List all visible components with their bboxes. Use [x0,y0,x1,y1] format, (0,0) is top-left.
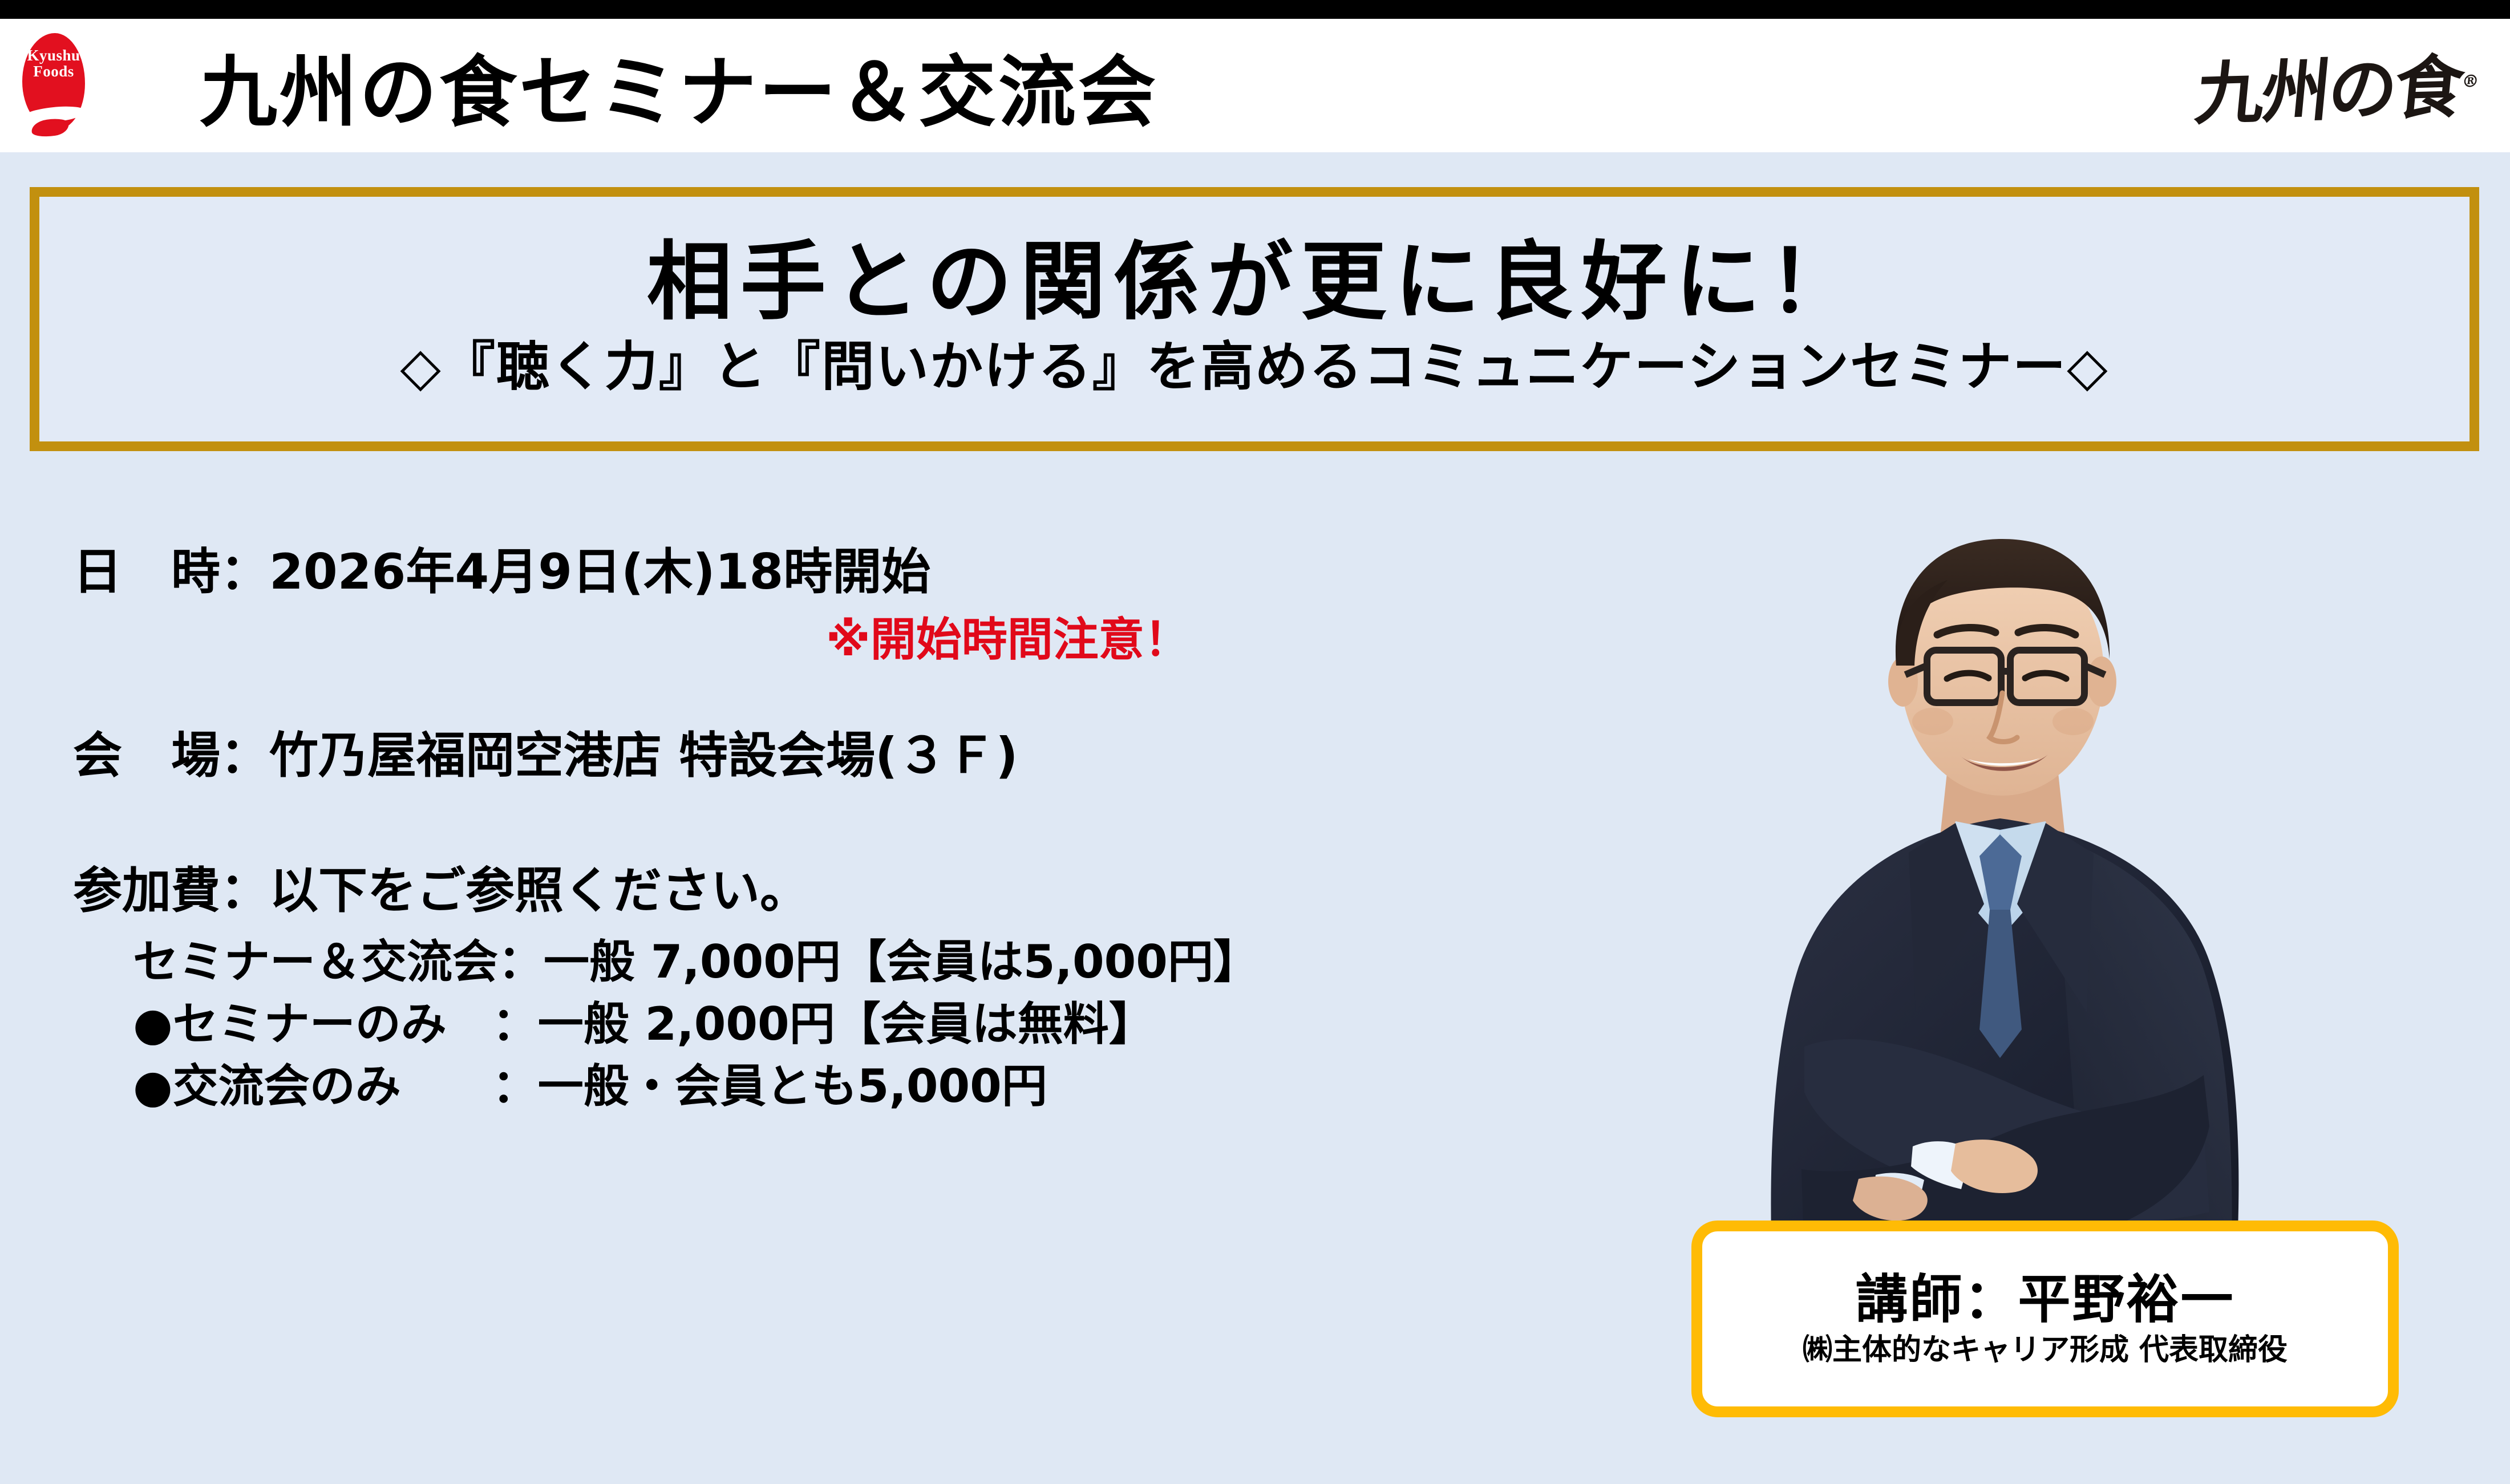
kyushu-no-shoku-brush-logo: 九州の食® [2125,29,2479,140]
kyushu-foods-logo: Kyushu Foods [19,23,88,145]
speaker-badge: 講師：平野裕一 ㈱主体的なキャリア形成 代表取締役 [1691,1221,2399,1417]
logo-text-line1: Kyushu [19,48,88,64]
seminar-subheadline: ◇『聴く力』と『問いかける』を高めるコミュニケーションセミナー◇ [400,338,2108,396]
speaker-affiliation: ㈱主体的なキャリア形成 代表取締役 [1803,1335,2288,1366]
top-black-bar [0,0,2510,19]
fee-item-seminar-only: ●セミナーのみ ：一般 2,000円【会員は無料】 [133,994,1647,1056]
fee-list: セミナー＆交流会：一般 7,000円【会員は5,000円】 ●セミナーのみ ：一… [133,931,1647,1117]
title-box: 相手との関係が更に良好に！ ◇『聴く力』と『問いかける』を高めるコミュニケーショ… [30,187,2479,451]
seminar-headline: 相手との関係が更に良好に！ [647,238,1863,328]
speaker-name: 講師：平野裕一 [1855,1272,2234,1328]
logo-text: Kyushu Foods [19,48,88,79]
fee-item-seminar-and-networking: セミナー＆交流会：一般 7,000円【会員は5,000円】 [133,931,1647,994]
speaker-photo [1687,453,2321,1286]
header-title: 九州の食セミナー＆交流会 [200,19,1158,152]
brush-logo-text: 九州の食® [2192,31,2484,138]
speaker-photo-illustration [1687,453,2321,1286]
registered-mark-icon: ® [2461,71,2480,92]
fee-heading: 参加費：以下をご参照ください。 [73,866,1647,917]
event-details: 日 時：2026年4月9日(木)18時開始 ※開始時間注意！ 会 場：竹乃屋福岡… [73,548,1647,1118]
brush-logo-label: 九州の食 [2192,46,2466,134]
fee-item-networking-only: ●交流会のみ ：一般・会員とも5,000円 [133,1056,1647,1118]
start-time-notice: ※開始時間注意！ [826,616,1647,664]
datetime-line: 日 時：2026年4月9日(木)18時開始 [73,548,1647,598]
logo-text-line2: Foods [19,64,88,80]
venue-line: 会 場：竹乃屋福岡空港店 特設会場(３Ｆ) [73,731,1647,781]
